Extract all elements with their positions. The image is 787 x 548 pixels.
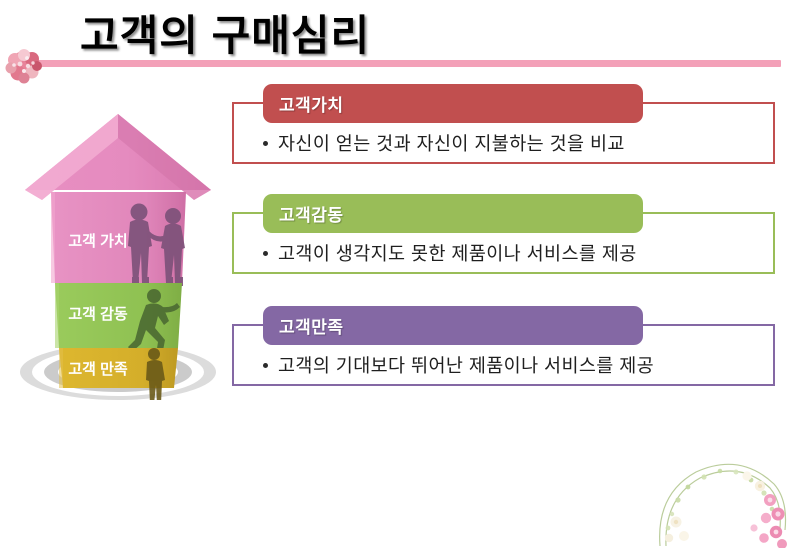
box-header-label: 고객만족 <box>279 313 344 338</box>
box-body: 고객이 생각지도 못한 제품이나 서비스를 제공 <box>263 236 765 270</box>
box-body: 고객의 기대보다 뛰어난 제품이나 서비스를 제공 <box>263 348 765 382</box>
box-header-label: 고객감동 <box>279 201 344 226</box>
house-roof <box>25 114 211 200</box>
bullet-icon <box>263 251 268 256</box>
house-level-label-satisfaction: 고객 만족 <box>68 360 128 378</box>
content-box-customer-impression: 고객감동 고객이 생각지도 못한 제품이나 서비스를 제공 <box>232 194 775 274</box>
box-header-pill[interactable]: 고객만족 <box>263 306 643 345</box>
wreath-flowers <box>665 471 787 548</box>
house-level-value: 고객 가치 <box>51 192 186 286</box>
floral-wreath-arc-icon <box>648 456 787 548</box>
box-body-text: 자신이 얻는 것과 자신이 지불하는 것을 비교 <box>278 130 625 156</box>
box-body: 자신이 얻는 것과 자신이 지불하는 것을 비교 <box>263 126 765 160</box>
content-box-customer-satisfaction: 고객만족 고객의 기대보다 뛰어난 제품이나 서비스를 제공 <box>232 306 775 386</box>
box-body-text: 고객의 기대보다 뛰어난 제품이나 서비스를 제공 <box>278 352 654 378</box>
house-level-label-value: 고객 가치 <box>68 232 127 250</box>
house-level-label-impression: 고객 감동 <box>68 305 128 323</box>
page-title: 고객의 구매심리 <box>80 2 370 63</box>
box-body-text: 고객이 생각지도 못한 제품이나 서비스를 제공 <box>278 240 637 266</box>
title-underline-rule <box>28 60 781 67</box>
bullet-icon <box>263 141 268 146</box>
box-header-pill[interactable]: 고객감동 <box>263 194 643 233</box>
box-header-pill[interactable]: 고객가치 <box>263 84 643 123</box>
pink-flower-cluster-icon <box>2 44 46 88</box>
customer-psychology-house-diagram: 고객 가치 고객 감동 고객 만족 <box>6 100 226 400</box>
house-level-impression: 고객 감동 <box>55 283 182 356</box>
bullet-icon <box>263 363 268 368</box>
content-box-customer-value: 고객가치 자신이 얻는 것과 자신이 지불하는 것을 비교 <box>232 84 775 164</box>
box-header-label: 고객가치 <box>279 91 344 116</box>
